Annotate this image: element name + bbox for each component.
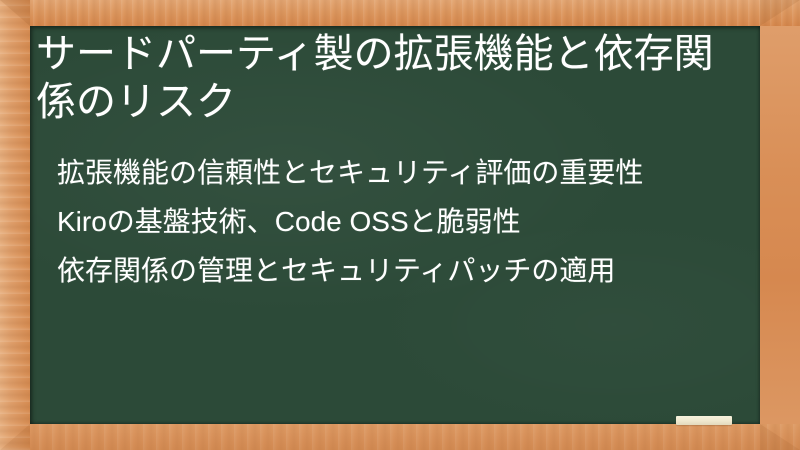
slide-bullet-3: 依存関係の管理とセキュリティパッチの適用 [57, 254, 615, 288]
chalk-stick [676, 416, 732, 425]
slide-title-line-2: 係のリスク [36, 78, 236, 126]
frame-rail-right [760, 0, 800, 450]
frame-corner-bottom-left [0, 424, 30, 450]
frame-rail-top [0, 0, 800, 26]
frame-corner-bottom-right [760, 424, 800, 450]
chalkboard-slide: サードパーティ製の拡張機能と依存関 係のリスク 拡張機能の信頼性とセキュリティ評… [0, 0, 800, 450]
frame-corner-top-left [0, 0, 30, 26]
slide-bullet-1: 拡張機能の信頼性とセキュリティ評価の重要性 [57, 156, 643, 190]
slide-title-line-1: サードパーティ製の拡張機能と依存関 [36, 30, 714, 78]
frame-corner-top-right [760, 0, 800, 26]
chalkboard-surface: サードパーティ製の拡張機能と依存関 係のリスク 拡張機能の信頼性とセキュリティ評… [30, 26, 760, 424]
frame-rail-bottom [0, 424, 800, 450]
frame-rail-left [0, 0, 30, 450]
slide-bullet-2: Kiroの基盤技術、Code OSSと脆弱性 [57, 205, 521, 239]
